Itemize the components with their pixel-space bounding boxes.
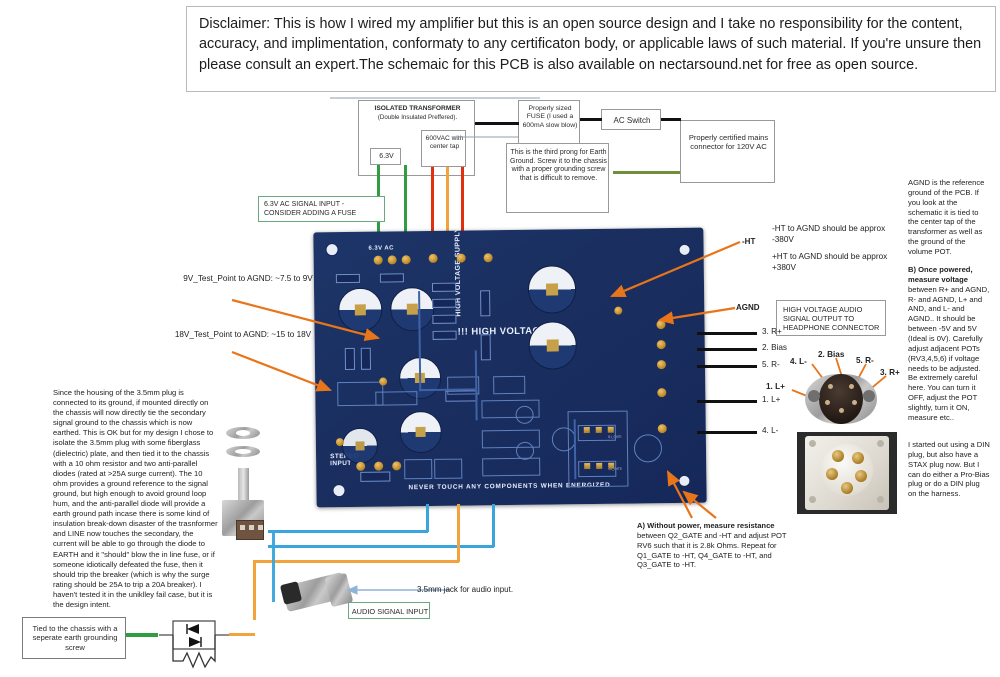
ac-signal-input-label: 6.3V AC SIGNAL INPUT - CONSIDER ADDING A… [264,201,383,218]
wire-pot-orange-v [457,504,460,562]
disclaimer-box: Disclaimer: This is how I wired my ampli… [186,6,996,92]
wire-pot-blue-2v [492,504,495,547]
pin-label-2: 5. R- [762,360,780,371]
wire-pin-1 [697,332,757,335]
wire-63v-b [404,165,407,237]
rail-label-ht-neg: -HT [742,237,755,247]
tap-63v-box: 6.3V [370,148,401,165]
step-a-rest: between Q2_GATE and -HT and adjust POT R… [637,531,786,570]
hv-audio-output-label: HIGH VOLTAGE AUDIO SIGNAL OUTPUT TO HEAD… [783,305,883,332]
chassis-earth-label: Tied to the chassis with a seperate eart… [23,624,127,652]
wire-pin-2 [697,348,757,351]
pot-terminal-block [236,520,264,540]
rule-mid [452,136,518,138]
test-point-18v-label: 18V_Test_Point to AGND: ~15 to 18V [168,330,318,341]
wire-center-tap [446,167,449,237]
ac-signal-input-box: 6.3V AC SIGNAL INPUT - CONSIDER ADDING A… [258,196,385,222]
audio-signal-input-label: AUDIO SIGNAL INPUT [349,607,431,616]
wire-pot-blue-2 [268,545,494,548]
socket-pin-l-minus: 4. L- [790,357,807,368]
step-a-text: A) Without power, measure resistance bet… [637,521,803,570]
ht-neg-note: -HT to AGND should be approx -380V [772,224,892,245]
transformer-subtitle: (Double Insulated Preffered). [359,114,476,122]
silk-63v-ac: 6.3V AC [369,245,394,252]
ac-switch-box: AC Switch [601,109,661,130]
stax-socket-photo [805,368,877,430]
step-a-prefix: A) Without power, measure [637,521,737,530]
diode-resistor-network [155,605,265,671]
pin-label-4: 4. L- [762,426,778,437]
step-b-keyword: voltage [941,275,968,284]
step-b-rest: between R+ and AGND, R- and AGND, L+ and… [908,285,989,422]
wire-pot-blue-1 [268,530,428,533]
socket-pin-r-plus: 3. R+ [880,368,900,379]
din-socket-photo [797,432,897,514]
fuse-label: Properly sized FUSE (I used a 600mA slow… [519,105,581,130]
fuse-box: Properly sized FUSE (I used a 600mA slow… [518,100,580,148]
ground-plug-explanation: Since the housing of the 3.5mm plug is c… [53,388,218,610]
ac-switch-label: AC Switch [602,116,662,125]
test-point-9v-label: 9V_Test_Point to AGND: ~7.5 to 9V [178,274,318,285]
chassis-earth-box: Tied to the chassis with a seperate eart… [22,617,126,659]
pin-label-3: 1. L+ [762,395,780,406]
wire-earth-green [126,633,158,637]
pin-label-1: 2. Bias [762,343,787,354]
wire-earth-ground [613,171,680,174]
audio-signal-input-box: AUDIO SIGNAL INPUT [348,602,430,619]
wire-pot-orange [255,560,459,563]
wire-ht-b [461,167,464,237]
wire-pin-3 [697,365,757,368]
mains-connector-box: Properly certified mains connector for 1… [680,120,775,183]
mains-connector-label: Properly certified mains connector for 1… [681,133,776,152]
wire-network-to-jack [229,633,255,636]
agnd-explanation: AGND is the reference ground of the PCB.… [908,178,990,257]
jack-35mm-label: 3.5mm jack for audio input. [417,585,513,595]
rule-top-left [330,97,540,99]
tap-63v-label: 6.3V [371,153,402,160]
wire-pin-5 [697,431,757,434]
pot-shaft [238,468,249,504]
wire-fuse-switch [580,118,602,121]
pot-washer [226,446,260,457]
socket-pin-bias: 2. Bias [818,350,844,361]
ht-pos-note: +HT to AGND should be approx +380V [772,252,892,273]
step-b-text: B) Once powered, measure voltage between… [908,265,990,423]
disclaimer-text: Disclaimer: This is how I wired my ampli… [199,16,981,73]
wire-pin-4 [697,400,757,403]
rail-label-agnd: AGND [736,303,760,313]
pin-label-0: 3. R+ [762,327,782,338]
step-a-keyword: resistance [737,521,775,530]
wire-ht-a [431,167,434,237]
socket-pin-r-minus: 5. R- [856,356,874,367]
din-stax-text: I started out using a DIN plug, but also… [908,440,990,499]
earth-ground-box: This is the third prong for Earth Ground… [506,143,609,213]
pcb-board: 6.3V AC HIGH VOLTAGE SUPPLY !!! HIGH VOL… [313,228,706,508]
earth-ground-text: This is the third prong for Earth Ground… [507,149,610,183]
wire-pot-blue-1v [426,504,429,532]
wire-transformer-fuse [475,122,519,125]
transformer-title: ISOLATED TRANSFORMER [359,105,476,113]
pot-nut [226,427,260,439]
hv-audio-output-box: HIGH VOLTAGE AUDIO SIGNAL OUTPUT TO HEAD… [776,300,886,336]
wire-switch-mains [661,118,681,121]
socket-pin-l-plus: 1. L+ [766,382,785,393]
